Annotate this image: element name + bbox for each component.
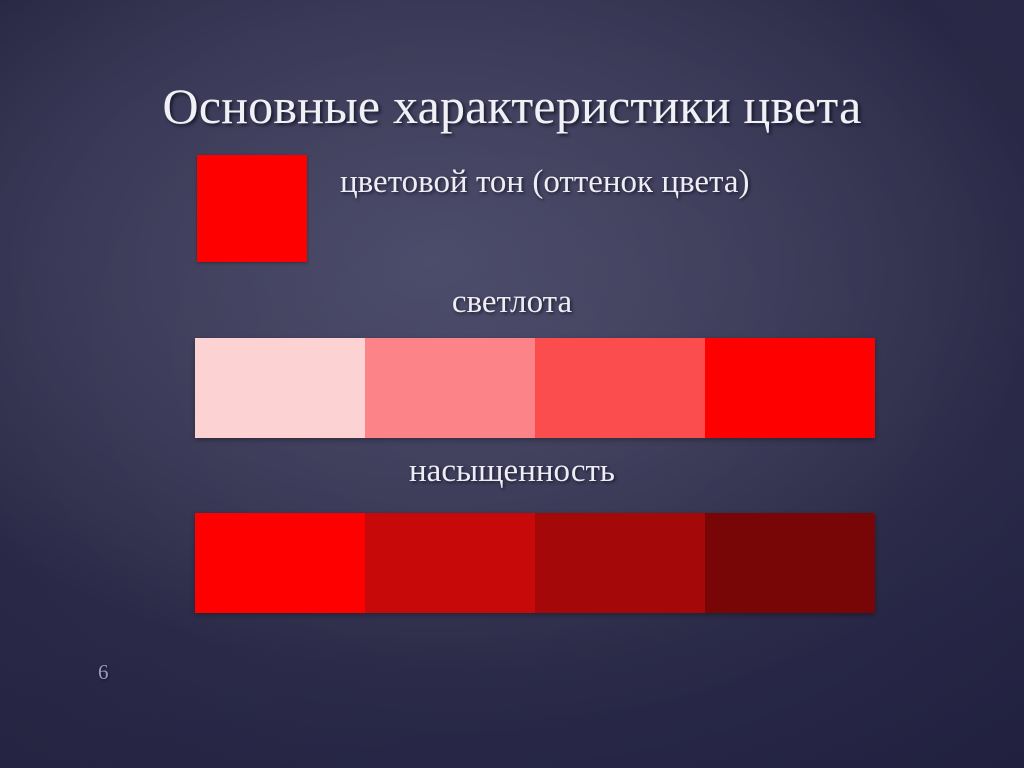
saturation-swatch-1 — [195, 513, 365, 613]
lightness-swatch-4 — [705, 338, 875, 438]
page-number: 6 — [98, 660, 109, 685]
saturation-swatch-2 — [365, 513, 535, 613]
saturation-caption: насыщенность — [0, 452, 1024, 492]
hue-caption: цветовой тон (оттенок цвета) — [340, 163, 750, 203]
presentation-slide: Основные характеристики цвета цветовой т… — [0, 0, 1024, 768]
lightness-swatch-3 — [535, 338, 705, 438]
lightness-swatch-2 — [365, 338, 535, 438]
saturation-swatch-4 — [705, 513, 875, 613]
saturation-gradient-bar — [195, 513, 875, 613]
saturation-swatch-3 — [535, 513, 705, 613]
lightness-caption: светлота — [0, 283, 1024, 323]
lightness-gradient-bar — [195, 338, 875, 438]
page-title: Основные характеристики цвета — [0, 79, 1024, 134]
hue-color-swatch — [197, 155, 307, 262]
lightness-swatch-1 — [195, 338, 365, 438]
